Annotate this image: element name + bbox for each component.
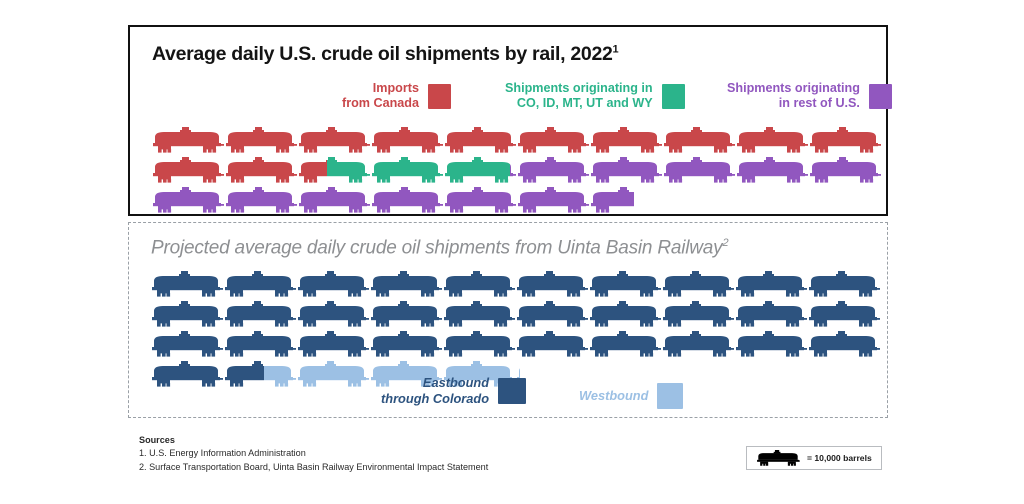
legend-swatch-eastbound-through-colorado: [498, 378, 526, 404]
train-row: [152, 157, 880, 183]
train-cars: [151, 301, 881, 327]
legend-item-imports-from-canada: Imports from Canada: [342, 81, 451, 112]
tank-car-icon: [756, 450, 800, 466]
train-row: [152, 127, 880, 153]
source-item-1: 1. U.S. Energy Information Administratio…: [139, 447, 609, 460]
bottom-panel: Projected average daily crude oil shipme…: [128, 222, 888, 418]
train-cars: [152, 187, 634, 213]
train-segment: [151, 301, 881, 327]
top-panel: Average daily U.S. crude oil shipments b…: [128, 25, 888, 216]
sources-block: Sources 1. U.S. Energy Information Admin…: [139, 434, 609, 474]
title-footnote-marker: 1: [613, 44, 619, 56]
bottom-panel-train-rows: [151, 271, 879, 391]
legend-item-shipments-rest-of-us: Shipments originating in rest of U.S.: [727, 81, 892, 112]
train-cars: [327, 157, 510, 183]
train-row: [151, 331, 879, 357]
train-segment: [151, 271, 881, 297]
legend-swatch-westbound: [657, 383, 683, 409]
train-segment: [152, 127, 882, 153]
chart-title-text: Average daily U.S. crude oil shipments b…: [152, 43, 613, 65]
train-row: [152, 187, 880, 213]
page-title: Average daily U.S. crude oil shipments b…: [152, 43, 618, 66]
train-row: [151, 271, 879, 297]
train-cars: [510, 157, 882, 183]
legend-label-shipments-co-id-mt-ut-wy: Shipments originating in CO, ID, MT, UT …: [505, 81, 653, 112]
legend-item-westbound: Westbound: [579, 383, 683, 409]
train-segment: [152, 157, 327, 183]
train-cars: [151, 271, 881, 297]
train-cars: [152, 127, 882, 153]
projected-title-text: Projected average daily crude oil shipme…: [151, 237, 722, 258]
top-panel-train-rows: [152, 127, 880, 217]
train-segment: [151, 331, 881, 357]
legend-swatch-shipments-co-id-mt-ut-wy: [662, 84, 685, 109]
legend-swatch-shipments-rest-of-us: [869, 84, 892, 109]
train-cars: [151, 331, 881, 357]
train-segment: [152, 187, 634, 213]
legend-label-imports-from-canada: Imports from Canada: [342, 81, 419, 112]
top-legend: Imports from Canada Shipments originatin…: [152, 79, 864, 119]
source-item-2: 2. Surface Transportation Board, Uinta B…: [139, 461, 609, 474]
sources-heading: Sources: [139, 434, 609, 447]
train-segment: [327, 157, 510, 183]
legend-swatch-imports-from-canada: [428, 84, 451, 109]
legend-label-eastbound-through-colorado: Eastbound through Colorado: [381, 375, 489, 406]
train-cars: [152, 157, 327, 183]
legend-label-shipments-rest-of-us: Shipments originating in rest of U.S.: [727, 81, 860, 112]
legend-item-shipments-co-id-mt-ut-wy: Shipments originating in CO, ID, MT, UT …: [505, 81, 685, 112]
scale-key-label: = 10,000 barrels: [807, 453, 872, 463]
train-row: [151, 301, 879, 327]
train-segment: [510, 157, 882, 183]
legend-label-westbound: Westbound: [579, 388, 648, 404]
projected-title: Projected average daily crude oil shipme…: [151, 237, 728, 259]
projected-title-footnote-marker: 2: [722, 237, 728, 249]
bottom-legend: Eastbound through Colorado Westbound: [151, 375, 863, 413]
legend-item-eastbound-through-colorado: Eastbound through Colorado: [381, 375, 526, 406]
scale-key: = 10,000 barrels: [746, 446, 882, 470]
